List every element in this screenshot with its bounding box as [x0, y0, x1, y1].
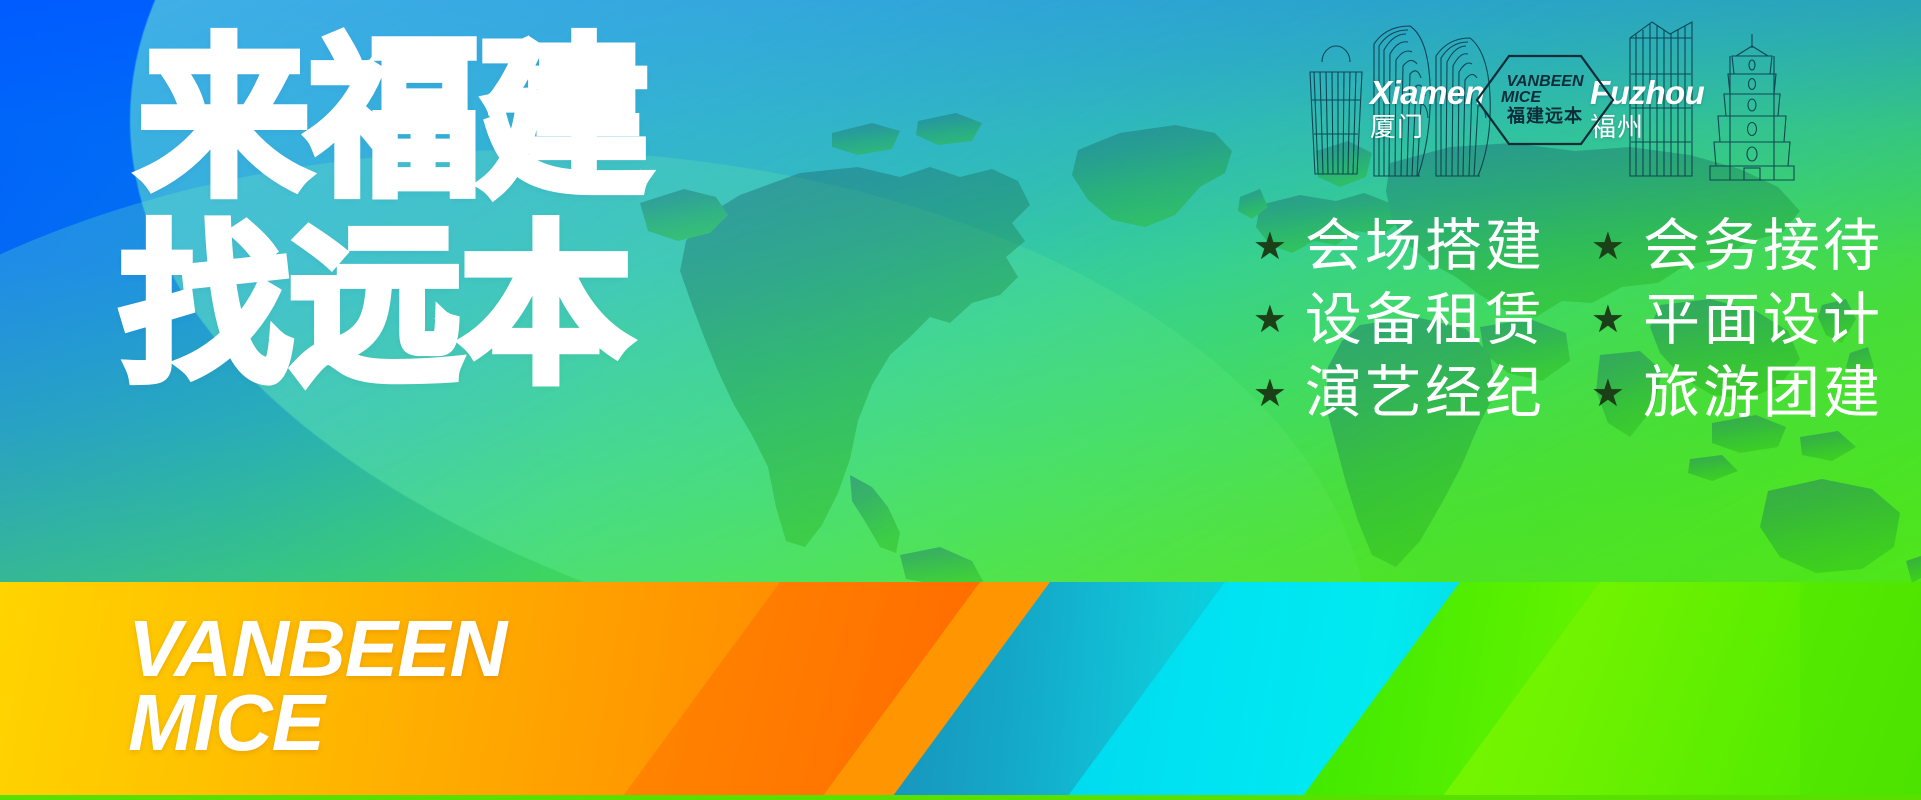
city-label-xiamen: Xiamen 厦门 — [1370, 76, 1484, 145]
service-label: 设备租赁 — [1305, 286, 1545, 356]
service-label: 会务接待 — [1643, 212, 1883, 282]
services-list: ★ 会场搭建 ★ 会务接待 ★ 设备租赁 ★ 平面设计 ★ 演艺经纪 ★ 旅游团 — [1253, 212, 1883, 429]
service-label: 旅游团建 — [1643, 359, 1883, 429]
headline-line-2: 找远本 — [120, 223, 760, 392]
service-item: ★ 会场搭建 — [1253, 212, 1545, 282]
service-item: ★ 设备租赁 — [1253, 286, 1545, 356]
brand-wordmark: VANBEEN MICE — [128, 612, 506, 761]
logo-text-en-line1: VANBEEN — [1506, 74, 1583, 90]
service-label: 演艺经纪 — [1305, 359, 1545, 429]
service-label: 会场搭建 — [1305, 212, 1545, 282]
page-title: 来福建 找远本 — [120, 36, 760, 391]
star-icon: ★ — [1253, 228, 1287, 266]
star-icon: ★ — [1253, 375, 1287, 413]
star-icon: ★ — [1591, 375, 1625, 413]
banner-background-gradient: 来福建 找远本 ★ 会场搭建 ★ 会务接待 ★ 设备租赁 ★ 平面设计 ★ — [0, 0, 1921, 582]
city-name-en: Xiamen — [1370, 76, 1484, 109]
promo-banner: 来福建 找远本 ★ 会场搭建 ★ 会务接待 ★ 设备租赁 ★ 平面设计 ★ — [0, 0, 1921, 800]
headline-line-1: 来福建 — [138, 36, 760, 205]
brand-line-2: MICE — [128, 686, 506, 760]
service-item: ★ 旅游团建 — [1591, 359, 1883, 429]
star-icon: ★ — [1591, 228, 1625, 266]
hexagon-logo-text: VANBEEN MICE 福建远本 — [1475, 54, 1615, 146]
service-item: ★ 会务接待 — [1591, 212, 1883, 282]
logo-text-cn: 福建远本 — [1507, 108, 1583, 126]
star-icon: ★ — [1591, 301, 1625, 339]
ribbon-baseline — [0, 795, 1921, 800]
city-name-cn: 厦门 — [1370, 112, 1484, 145]
logo-text-en-line2: MICE — [1501, 90, 1541, 106]
ribbon-stripe-lime-fill — [1800, 582, 1921, 800]
service-item: ★ 演艺经纪 — [1253, 359, 1545, 429]
vanbeen-hexagon-logo: VANBEEN MICE 福建远本 — [1475, 54, 1615, 146]
service-label: 平面设计 — [1643, 286, 1883, 356]
brand-line-1: VANBEEN — [128, 612, 506, 686]
service-item: ★ 平面设计 — [1591, 286, 1883, 356]
city-landmark-cluster: Xiamen 厦门 Fuzhou 福州 VANBEEN MICE 福建远本 — [1300, 4, 1920, 184]
star-icon: ★ — [1253, 301, 1287, 339]
